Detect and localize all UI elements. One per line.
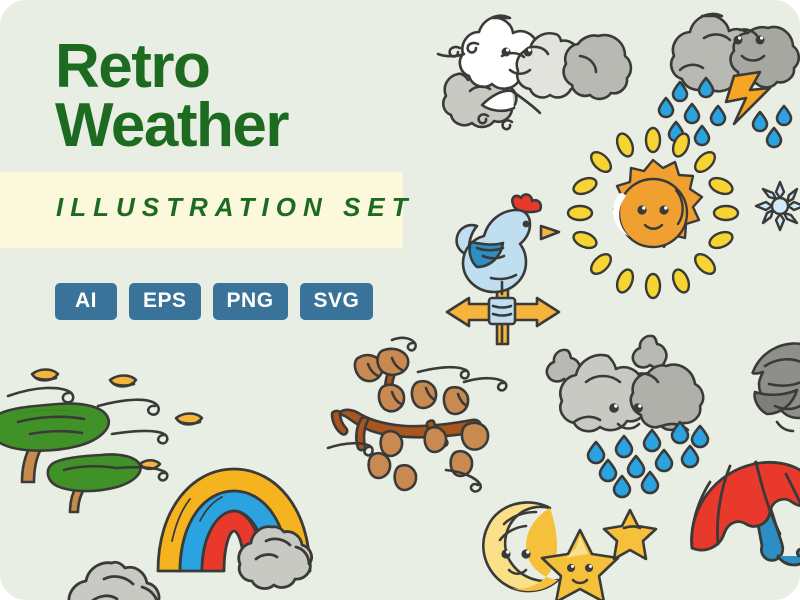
format-badge-eps[interactable]: EPS [129,283,201,320]
rainbow-illustration [140,455,400,600]
storm-cloud-illustration [650,0,800,140]
snowflake-illustration [752,178,800,234]
format-badge-ai[interactable]: AI [55,283,117,320]
format-badge-png[interactable]: PNG [213,283,288,320]
moon-and-stars-illustration [478,492,658,600]
format-badge-list: AI EPS PNG SVG [55,283,373,320]
format-badge-svg[interactable]: SVG [300,283,374,320]
poster-canvas: Retro Weather ILLUSTRATION SET AI EPS PN… [0,0,800,600]
title-line-2: Weather [55,97,288,156]
dark-cloud-illustration [735,336,800,456]
page-title: Retro Weather [55,38,288,156]
wind-cloud-illustration [440,0,650,141]
title-line-1: Retro [55,38,288,97]
umbrella-illustration [686,452,800,600]
weathervane-illustration [425,188,595,348]
subtitle: ILLUSTRATION SET [56,192,415,223]
